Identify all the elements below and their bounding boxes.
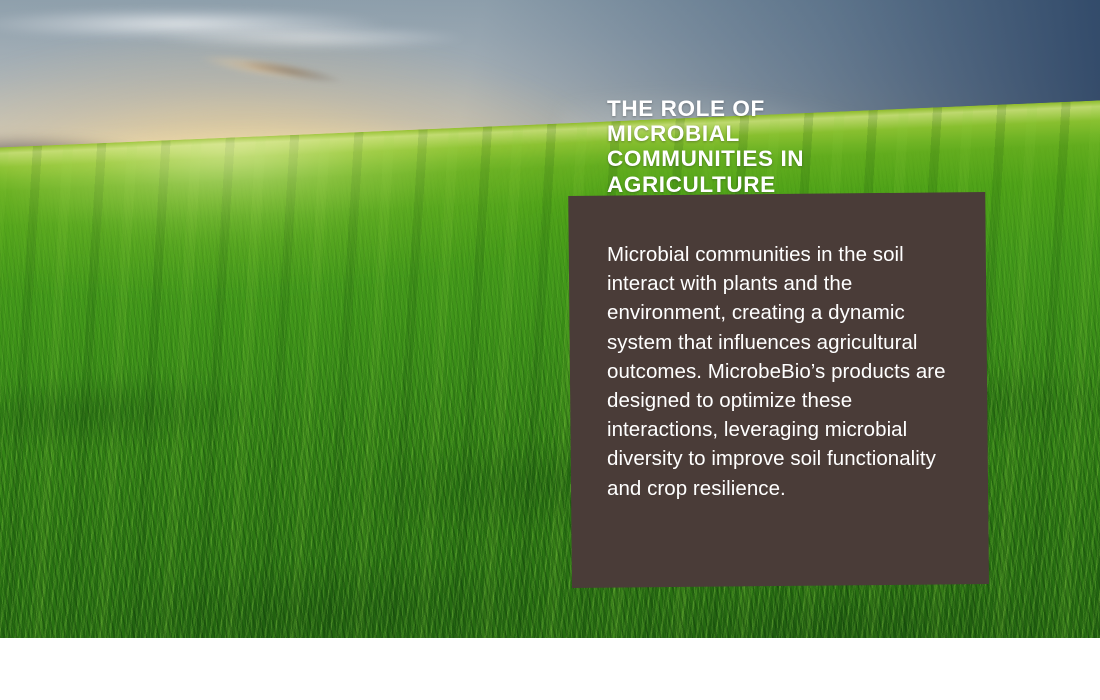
body-paragraph: Microbial communities in the soil intera… [607,240,959,503]
body-text-panel-content: Microbial communities in the soil intera… [572,196,989,588]
footer: 4 © 2024 Microbebio - All Rights Reserve… [0,638,1100,700]
page-title: THE ROLE OF MICROBIAL COMMUNITIES IN AGR… [607,96,1007,197]
page-canvas: THE ROLE OF MICROBIAL COMMUNITIES IN AGR… [0,0,1100,700]
